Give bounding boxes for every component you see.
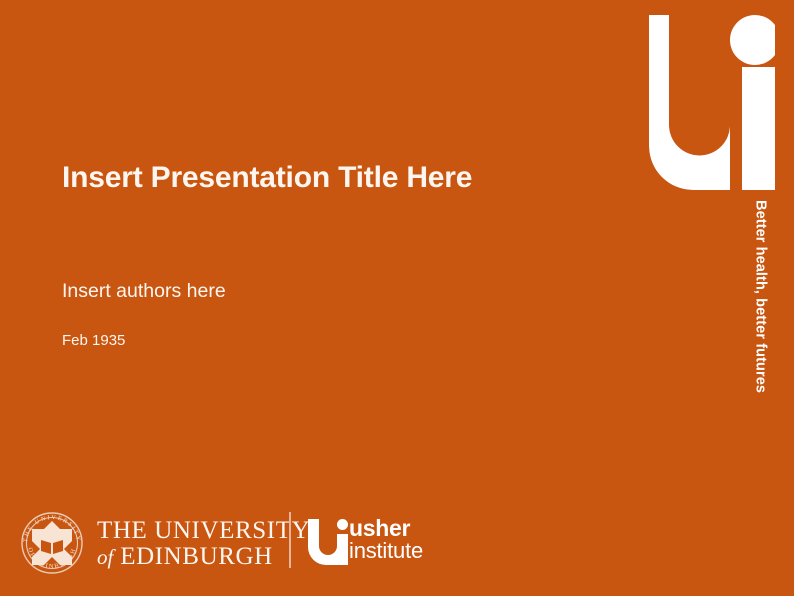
footer-logo-bar: THE UNIVERSITY OF EDINBURGH THE UNIVERSI…	[0, 500, 794, 596]
edinburgh-crest-icon: THE UNIVERSITY OF EDINBURGH	[19, 508, 85, 577]
usher-institute-name-top: usher	[349, 517, 423, 540]
university-wordmark-city: EDINBURGH	[120, 543, 273, 570]
university-wordmark-line2: of EDINBURGH	[97, 544, 310, 570]
slide-authors: Insert authors here	[62, 280, 226, 303]
footer-divider	[289, 512, 291, 568]
usher-institute-monogram-icon	[625, 15, 775, 196]
page-title: Insert Presentation Title Here	[62, 158, 542, 198]
brand-tagline: Better health, better futures	[747, 200, 773, 415]
university-wordmark-of: of	[97, 545, 113, 569]
brand-tagline-text: Better health, better futures	[753, 200, 768, 393]
university-wordmark: THE UNIVERSITY of EDINBURGH	[97, 518, 310, 571]
university-wordmark-line1: THE UNIVERSITY	[97, 518, 310, 544]
usher-institute-name-bottom: institute	[349, 540, 423, 562]
usher-institute-wordmark: usher institute	[349, 517, 423, 563]
usher-ui-monogram-icon	[308, 519, 348, 565]
slide-date: Feb 1935	[62, 332, 125, 350]
usher-institute-logo: usher institute	[308, 515, 433, 567]
title-block: Insert Presentation Title Here Insert au…	[62, 158, 542, 198]
presentation-slide: Better health, better futures Insert Pre…	[0, 0, 794, 596]
